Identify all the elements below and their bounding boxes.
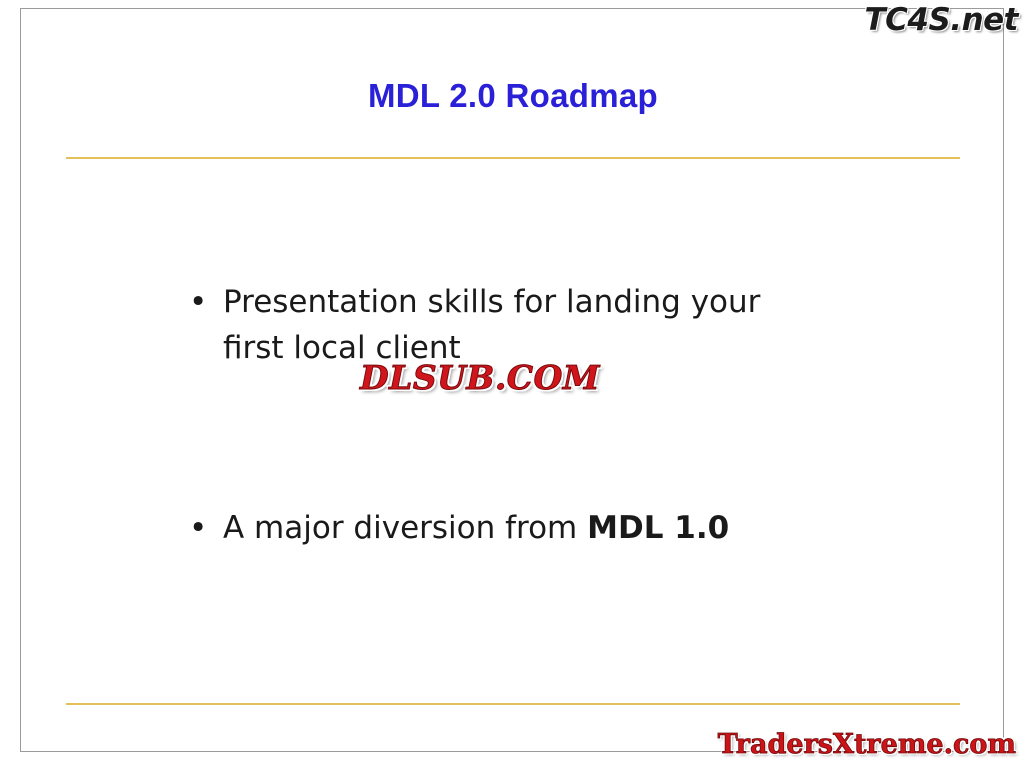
bullet-marker-icon: •	[189, 505, 207, 551]
watermark-top-right: TC4S.net	[865, 2, 1018, 38]
list-item-lead-text: A major diversion from	[223, 510, 587, 546]
page-title: MDL 2.0 Roadmap	[21, 77, 1005, 115]
slide-canvas: MDL 2.0 Roadmap • Presentation skills fo…	[0, 0, 1024, 768]
divider-top	[66, 157, 960, 159]
bullet-marker-icon: •	[189, 279, 207, 325]
list-item-line-1: Presentation skills for landing your	[223, 284, 760, 320]
watermark-bottom-right: TradersXtreme.com	[718, 729, 1016, 760]
list-item-emphasis-text: MDL 1.0	[587, 510, 729, 546]
watermark-center: DLSUB.COM	[360, 358, 600, 397]
list-item: • A major diversion from MDL 1.0	[171, 505, 911, 551]
divider-bottom	[66, 703, 960, 705]
bullet-list: • Presentation skills for landing your f…	[171, 279, 911, 551]
